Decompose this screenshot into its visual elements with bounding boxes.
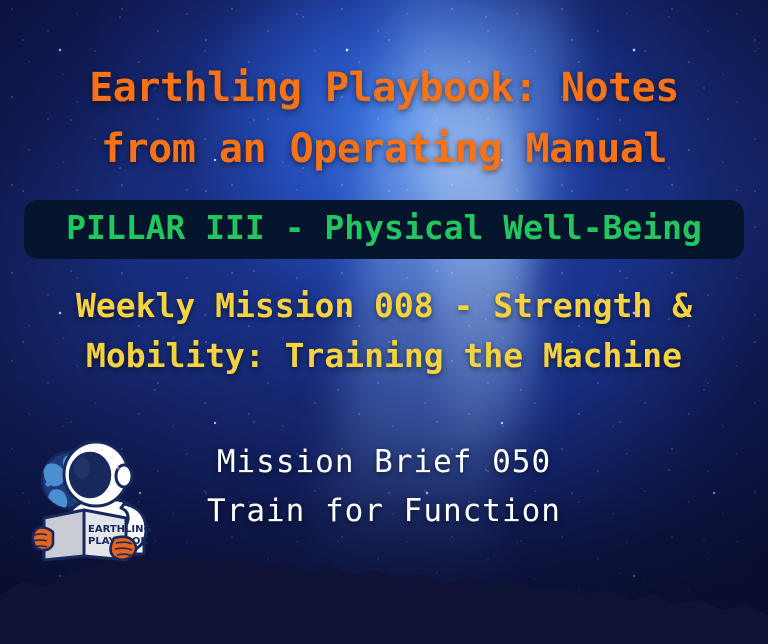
page-title-line-2: from an Operating Manual — [89, 119, 679, 180]
mission-heading-line-2: Mobility: Training the Machine — [76, 331, 692, 382]
page-title: Earthling Playbook: Notes from an Operat… — [89, 58, 679, 180]
mission-brief: Mission Brief 050 Train for Function — [207, 438, 561, 536]
pillar-banner: PILLAR III - Physical Well-Being — [24, 200, 744, 259]
pillar-label: PILLAR III - Physical Well-Being — [34, 209, 734, 248]
astronaut-reading-icon: EARTHLING PLAYBOOK — [28, 432, 168, 562]
book-title-line-1: EARTHLING — [88, 524, 152, 535]
mission-card: Earthling Playbook: Notes from an Operat… — [0, 0, 768, 644]
astronaut-helmet-icon — [64, 442, 132, 506]
mission-brief-number: Mission Brief 050 — [207, 438, 561, 487]
page-title-line-1: Earthling Playbook: Notes — [89, 58, 679, 119]
mission-heading: Weekly Mission 008 - Strength & Mobility… — [76, 281, 692, 383]
astronaut-logo: EARTHLING PLAYBOOK — [28, 432, 168, 562]
mission-heading-line-1: Weekly Mission 008 - Strength & — [76, 281, 692, 332]
mission-brief-subtitle: Train for Function — [207, 487, 561, 536]
